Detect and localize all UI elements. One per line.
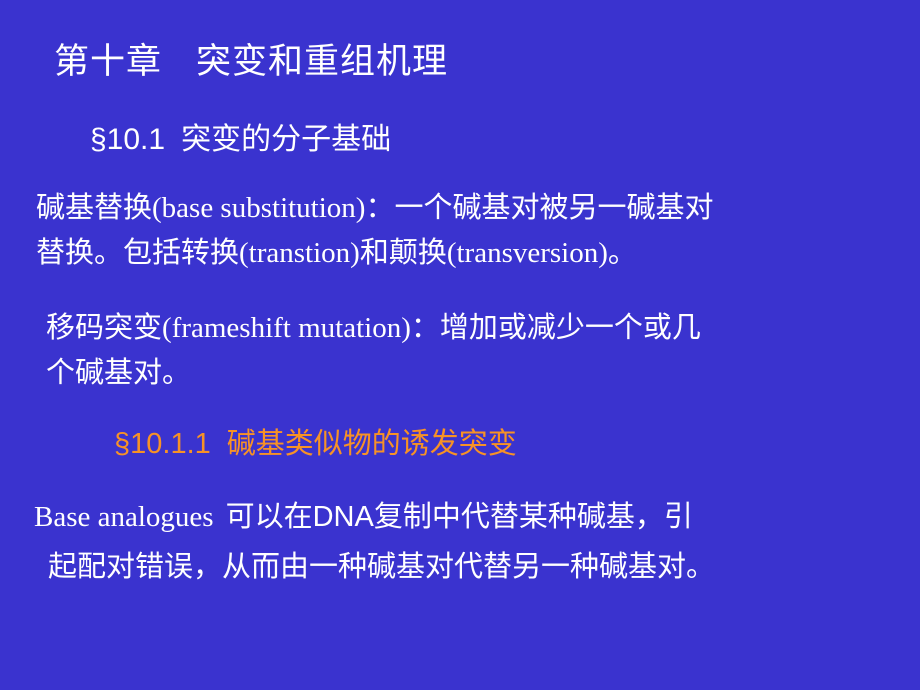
frameshift-definition: ：增加或减少一个或几 — [411, 312, 701, 344]
section-heading-10-1: §10.1突变的分子基础 — [90, 125, 391, 155]
base-substitution-term: 碱基替换(base substitution)： — [36, 192, 394, 224]
base-analogues-term: Base analogues — [34, 501, 214, 533]
base-substitution-line2-cn-a: 替换。包括转换 — [36, 237, 239, 269]
base-substitution-line2-cn-b: 和颠换 — [360, 237, 447, 269]
subsection-title-10-1-1: 碱基类似物的诱发突变 — [227, 428, 517, 460]
transversion-term: (transversion) — [447, 237, 608, 269]
slide-title: 第十章突变和重组机理 — [54, 44, 448, 79]
section-number-10-1: §10.1 — [90, 123, 165, 156]
paragraph-base-analogues: Base analogues可以在DNA复制中代替某种碱基，引起配对错误，从而由… — [34, 492, 912, 592]
base-substitution-line2: 替换。包括转换(transtion)和颠换(transversion)。 — [36, 231, 906, 276]
base-analogues-line2-cn: 起配对错误，从而由一种碱基对代替另一种碱基对。 — [48, 542, 912, 592]
base-substitution-line2-cn-c: 。 — [608, 237, 637, 269]
frameshift-line2: 个碱基对。 — [46, 351, 906, 396]
paragraph-frameshift-mutation: 移码突变(frameshift mutation)：增加或减少一个或几个碱基对。 — [46, 306, 906, 396]
subsection-heading-10-1-1: §10.1.1碱基类似物的诱发突变 — [114, 430, 517, 459]
subsection-number-10-1-1: §10.1.1 — [114, 428, 211, 460]
transition-term: (transtion) — [239, 237, 360, 269]
base-substitution-definition: 一个碱基对被另一碱基对 — [394, 192, 713, 224]
paragraph-base-substitution: 碱基替换(base substitution)：一个碱基对被另一碱基对替换。包括… — [36, 186, 906, 276]
slide-title-subject: 突变和重组机理 — [196, 42, 448, 81]
frameshift-term-cn: 移码突变 — [46, 312, 162, 344]
section-title-10-1: 突变的分子基础 — [181, 123, 391, 156]
frameshift-term-en: (frameshift mutation) — [162, 312, 411, 344]
slide-title-chapter: 第十章 — [54, 42, 162, 81]
base-analogues-line1-cn: 可以在DNA复制中代替某种碱基，引 — [226, 501, 693, 533]
presentation-slide: 第十章突变和重组机理 §10.1突变的分子基础 碱基替换(base substi… — [0, 0, 920, 690]
